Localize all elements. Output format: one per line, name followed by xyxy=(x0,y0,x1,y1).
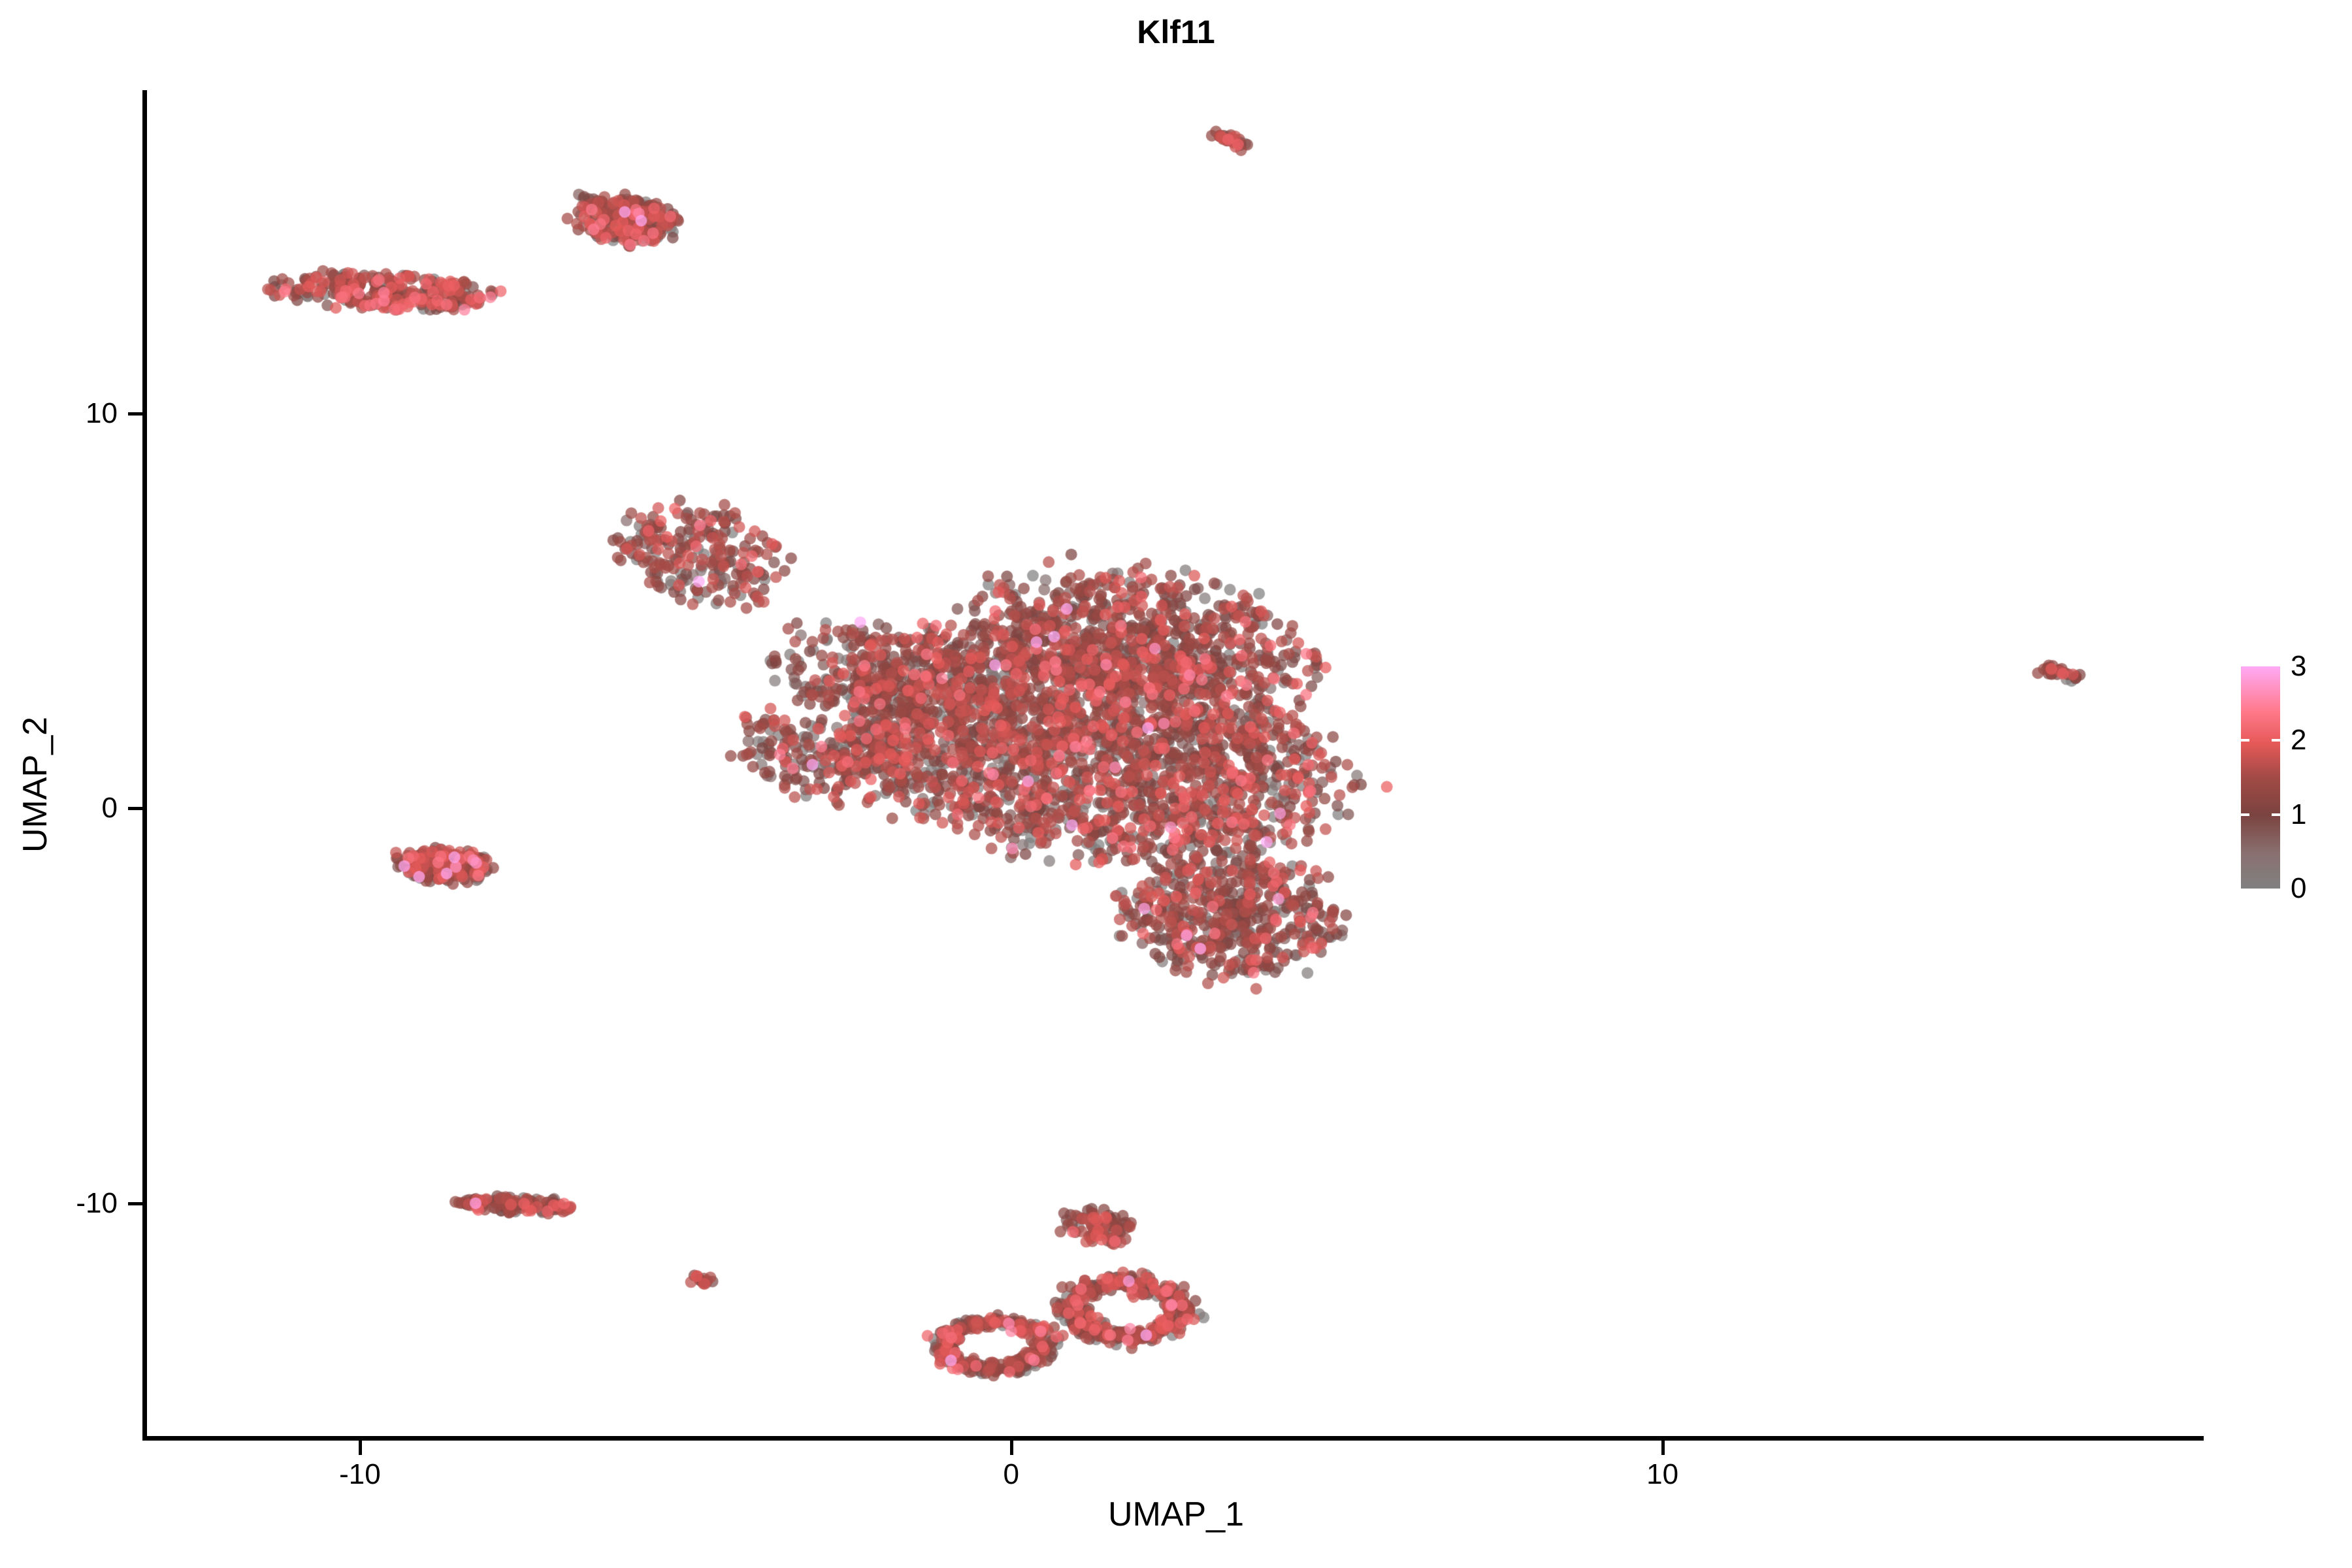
x-axis-line xyxy=(142,1436,2204,1441)
legend-tick-mark xyxy=(2272,739,2280,742)
legend-tick-mark xyxy=(2241,813,2249,816)
legend-colorbar xyxy=(2241,666,2280,889)
y-tick-mark xyxy=(128,807,142,810)
scatter-plot-area xyxy=(145,90,2203,1440)
legend-label-0: 3 xyxy=(2291,650,2306,683)
y-tick-label-0: 10 xyxy=(86,397,118,430)
x-tick-label-1: 0 xyxy=(1004,1458,1019,1491)
scatter-points-canvas xyxy=(145,90,2203,1440)
x-axis-title: UMAP_1 xyxy=(0,1495,2352,1534)
legend-tick-mark xyxy=(2241,739,2249,742)
y-tick-mark xyxy=(128,412,142,416)
color-legend: 3210 xyxy=(2241,666,2339,889)
legend-label-1: 2 xyxy=(2291,724,2306,757)
y-tick-label-2: -10 xyxy=(76,1187,118,1220)
x-tick-label-2: 10 xyxy=(1646,1458,1678,1491)
x-tick-mark xyxy=(359,1441,362,1455)
y-tick-mark xyxy=(128,1202,142,1205)
y-tick-label-1: 0 xyxy=(102,792,118,825)
x-tick-mark xyxy=(1661,1441,1665,1455)
legend-tick-mark xyxy=(2272,813,2280,816)
page-title: Klf11 xyxy=(0,13,2352,51)
x-tick-label-0: -10 xyxy=(339,1458,381,1491)
x-tick-mark xyxy=(1010,1441,1013,1455)
y-axis-line xyxy=(142,90,147,1440)
legend-label-2: 1 xyxy=(2291,798,2306,831)
legend-label-3: 0 xyxy=(2291,872,2306,905)
y-axis-title: UMAP_2 xyxy=(16,615,55,955)
feature-plot-figure: Klf11 100-10 -10010 UMAP_2 UMAP_1 3210 xyxy=(0,0,2352,1568)
